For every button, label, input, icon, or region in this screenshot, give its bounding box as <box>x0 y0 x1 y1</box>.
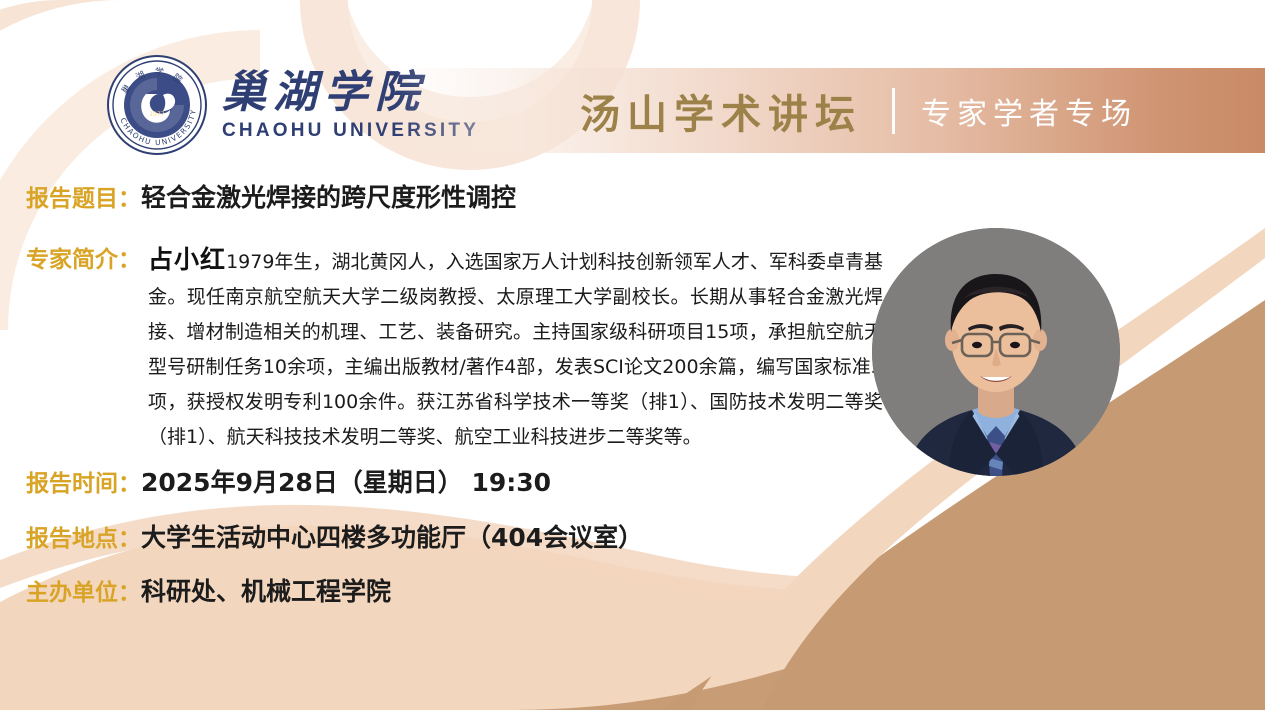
lecture-poster: 1977 巢 湖 学 院 CHAOHU UNIVERSITY 巢湖学院 CHAO… <box>0 0 1265 710</box>
portrait-image <box>872 228 1120 476</box>
bio-body: 占小红1979年生，湖北黄冈人，入选国家万人计划科技创新领军人才、军科委卓青基金… <box>148 242 883 455</box>
topic-label: 报告题目： <box>26 179 141 213</box>
expert-bio-text: 1979年生，湖北黄冈人，入选国家万人计划科技创新领军人才、军科委卓青基金。现任… <box>148 251 883 448</box>
bio-row: 专家简介： 占小红1979年生，湖北黄冈人，入选国家万人计划科技创新领军人才、军… <box>26 242 886 455</box>
topic-value: 轻合金激光焊接的跨尺度形性调控 <box>141 178 516 214</box>
bio-label: 专家简介： <box>26 242 141 277</box>
time-label: 报告时间： <box>26 464 141 498</box>
expert-name: 占小红 <box>148 245 226 274</box>
host-value: 科研处、机械工程学院 <box>141 572 391 608</box>
place-row: 报告地点： 大学生活动中心四楼多功能厅（404会议室） <box>26 518 643 554</box>
host-row: 主办单位： 科研处、机械工程学院 <box>26 572 391 608</box>
time-value: 2025年9月28日（星期日） 19:30 <box>141 463 551 499</box>
place-label: 报告地点： <box>26 519 141 553</box>
place-value: 大学生活动中心四楼多功能厅（404会议室） <box>141 518 643 554</box>
host-label: 主办单位： <box>26 573 141 607</box>
expert-portrait <box>872 228 1120 476</box>
topic-row: 报告题目： 轻合金激光焊接的跨尺度形性调控 <box>26 178 516 214</box>
time-row: 报告时间： 2025年9月28日（星期日） 19:30 <box>26 463 551 499</box>
